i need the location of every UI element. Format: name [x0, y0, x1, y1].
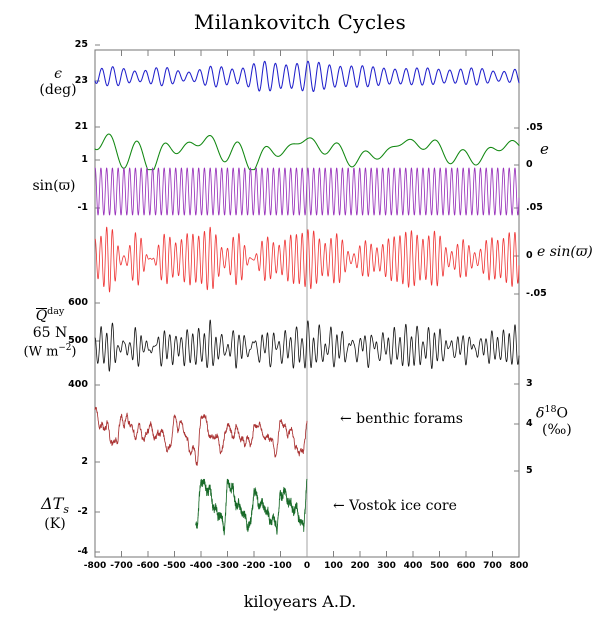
ecc-tick-0: 0 [526, 159, 566, 170]
insol-tick-400: 400 [48, 379, 88, 390]
obliquity-units: (deg) [39, 82, 76, 98]
insolation-symbol: Q [36, 308, 47, 324]
obliquity-tick-25: 25 [48, 39, 88, 50]
milankovitch-figure: Milankovitch Cycles 2523211-16005004002-… [0, 0, 600, 626]
delta-ts-units: (K) [44, 516, 65, 532]
insolation-units-a: (W m [24, 344, 59, 359]
dts-tick-m4: -4 [48, 546, 88, 557]
benthic-forams-annotation: ← benthic forams [340, 411, 463, 427]
sin-tick-m1: -1 [48, 202, 88, 213]
esin-tick-m005: -.05 [526, 288, 566, 299]
obliquity-axis-label: ϵ (deg) [28, 66, 88, 98]
obliquity-symbol: ϵ [54, 66, 62, 82]
esin-precession-symbol: e sin(ϖ) [537, 244, 593, 260]
delta-ts-axis-label: ΔTs (K) [22, 494, 88, 533]
dts-tick-2: 2 [48, 456, 88, 467]
d18o-tick-5: 5 [526, 465, 566, 476]
sin-precession-axis-label: sin(ϖ) [18, 178, 90, 194]
vostok-delta-ts-curve [196, 479, 307, 535]
insolation-units-exp: −2 [58, 343, 71, 353]
sin-precession-symbol: sin(ϖ) [32, 178, 75, 194]
eccentricity-symbol: e [540, 140, 549, 158]
plot-canvas [0, 0, 600, 626]
insolation-units-b: ) [71, 344, 76, 359]
delta-ts-symbol: ΔT [41, 494, 63, 513]
d18o-axis-label: δ18O (‰) [536, 404, 600, 439]
d18o-units: (‰) [542, 422, 572, 438]
x-tick-800: 800 [499, 561, 539, 571]
benthic-forams-curve [95, 407, 307, 465]
d18o-superscript: 18 [544, 404, 556, 415]
insolation-latitude: 65 N [33, 325, 68, 341]
x-axis-title: kiloyears A.D. [0, 592, 600, 611]
esin-precession-axis-label: e sin(ϖ) [537, 244, 600, 260]
insolation-sup: day [47, 306, 64, 317]
ecc-tick-005b: .05 [526, 202, 566, 213]
d18o-tick-3: 3 [526, 378, 566, 389]
obliquity-tick-21: 21 [48, 121, 88, 132]
ecc-tick-005: .05 [526, 122, 566, 133]
insolation-axis-label: Qday 65 N (W m−2) [10, 306, 90, 360]
vostok-annotation: ← Vostok ice core [333, 498, 457, 514]
d18o-oxygen: O [557, 406, 568, 422]
eccentricity-axis-label: e [540, 140, 570, 158]
sin-tick-1: 1 [48, 154, 88, 165]
delta-ts-sub: s [63, 503, 69, 516]
